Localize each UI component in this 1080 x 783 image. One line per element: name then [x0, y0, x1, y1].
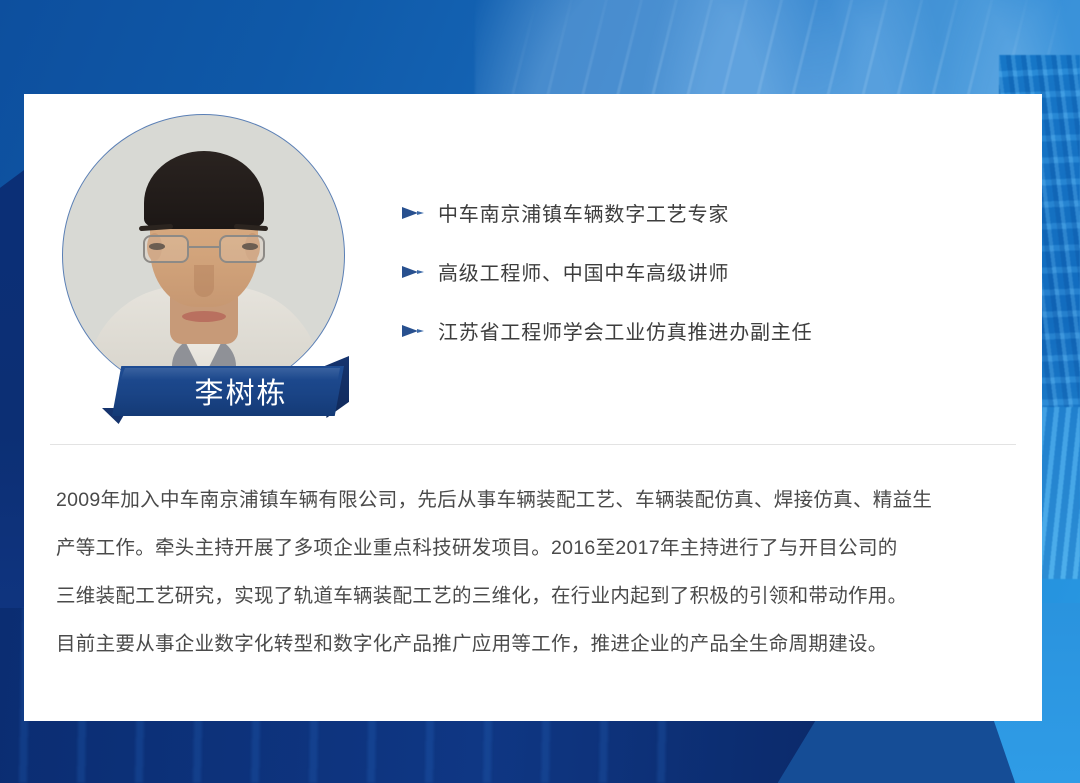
bio-line: 产等工作。牵头主持开展了多项企业重点科技研发项目。2016至2017年主持进行了…: [56, 524, 1014, 572]
portrait-hair: [144, 151, 264, 229]
list-item: 江苏省工程师学会工业仿真推进办副主任: [402, 316, 812, 345]
bio-line: 2009年加入中车南京浦镇车辆有限公司，先后从事车辆装配工艺、车辆装配仿真、焊接…: [56, 476, 1014, 524]
arrow-right-icon: [402, 265, 424, 279]
glasses-bridge: [189, 246, 219, 248]
name-ribbon: 李树栋: [86, 356, 386, 426]
list-item: 中车南京浦镇车辆数字工艺专家: [402, 198, 812, 227]
portrait-nose: [194, 265, 214, 297]
avatar: [62, 114, 345, 397]
portrait-glasses: [143, 235, 265, 265]
ribbon-body: 李树栋: [112, 366, 344, 416]
credential-text: 高级工程师、中国中车高级讲师: [438, 257, 729, 286]
profile-header-row: 李树栋 中车南京浦镇车辆数字工艺专家: [24, 94, 1042, 444]
arrow-right-icon: [402, 324, 424, 338]
portrait-mouth: [182, 311, 226, 322]
arrow-right-icon: [402, 206, 424, 220]
bio-line: 三维装配工艺研究，实现了轨道车辆装配工艺的三维化，在行业内起到了积极的引领和带动…: [56, 572, 1014, 620]
list-item: 高级工程师、中国中车高级讲师: [402, 257, 812, 286]
glasses-lens-left: [143, 235, 189, 263]
section-divider: [50, 444, 1016, 445]
credential-text: 中车南京浦镇车辆数字工艺专家: [438, 198, 729, 227]
slide-canvas: 李树栋 中车南京浦镇车辆数字工艺专家: [0, 0, 1080, 783]
biography: 2009年加入中车南京浦镇车辆有限公司，先后从事车辆装配工艺、车辆装配仿真、焊接…: [56, 476, 1014, 668]
glasses-lens-right: [219, 235, 265, 263]
credential-text: 江苏省工程师学会工业仿真推进办副主任: [438, 316, 812, 345]
speaker-name: 李树栋: [168, 370, 287, 412]
credentials-list: 中车南京浦镇车辆数字工艺专家 高级工程师、中国中车高级讲师: [402, 198, 812, 345]
bio-line: 目前主要从事企业数字化转型和数字化产品推广应用等工作，推进企业的产品全生命周期建…: [56, 620, 1014, 668]
profile-card: 李树栋 中车南京浦镇车辆数字工艺专家: [24, 94, 1042, 721]
